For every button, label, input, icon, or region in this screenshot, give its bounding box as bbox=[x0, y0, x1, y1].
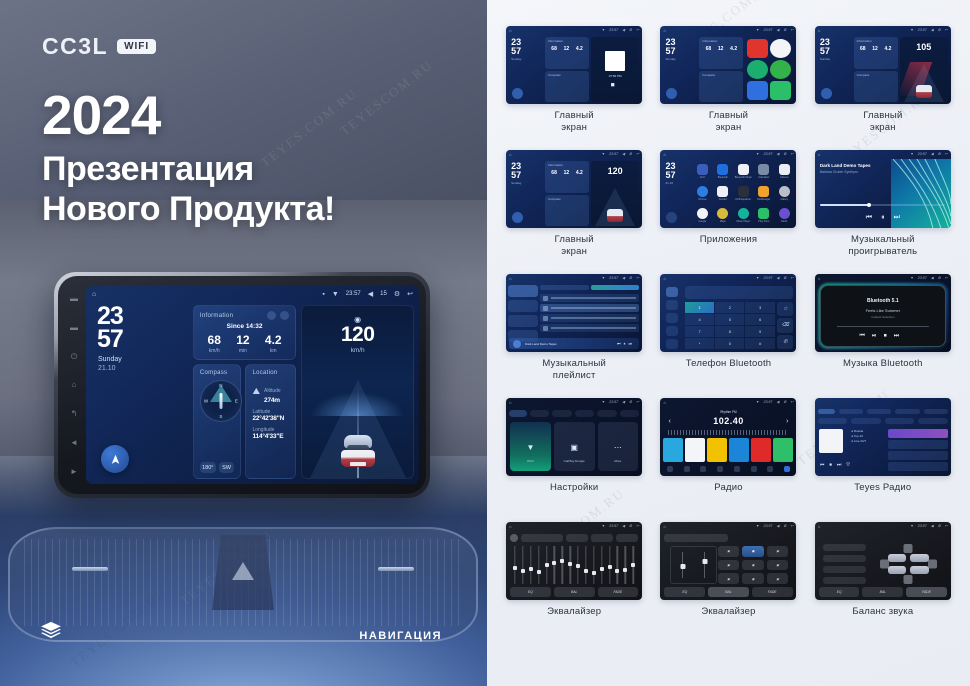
back-arrow-icon: ↩ bbox=[945, 28, 948, 32]
wifi-icon: ▼ bbox=[910, 152, 914, 156]
list-item[interactable] bbox=[540, 324, 639, 332]
gear-icon: ⚙ bbox=[629, 276, 632, 280]
home-icon[interactable]: ⌂ bbox=[92, 291, 96, 298]
product-logo: CC3L WIFI bbox=[42, 33, 156, 60]
thumbnail-bluetooth-music[interactable]: ⌂ ▼23:57◀⚙↩ Bluetooth 5.1 Feels Like Sum… bbox=[815, 274, 951, 352]
preset-tile[interactable]: ▣ bbox=[767, 546, 789, 557]
preset-1 bbox=[663, 438, 683, 462]
wifi-icon: ▼ bbox=[756, 276, 760, 280]
home-icon: ⌂ bbox=[509, 400, 511, 405]
speed-value: 120 bbox=[591, 166, 639, 176]
gear-icon: ⚙ bbox=[783, 400, 786, 404]
gallery-item[interactable]: ⌂ ▼23:57◀⚙↩ Rhythm FM ‹ › 102.40 Радио bbox=[655, 398, 801, 518]
back-arrow-icon: ↩ bbox=[790, 524, 793, 528]
thumbnail-equalizer-presets[interactable]: ⌂ ▼23:57◀⚙↩ ▣▣▣ ▣▣▣ ▣▣▣ EQBALFADE bbox=[660, 522, 796, 600]
track-artist: Barbara Gruber Synthpro bbox=[820, 170, 886, 174]
thumbnail-sound-balance[interactable]: ⌂ ▼23:57◀⚙↩ EQBALFADE bbox=[815, 522, 951, 600]
dialer-actions[interactable]: ☆ ⌫ ✆ bbox=[777, 302, 793, 349]
information-title: Information bbox=[200, 313, 233, 319]
gear-icon: ⚙ bbox=[629, 400, 632, 404]
preset-tile[interactable]: ▣ bbox=[767, 560, 789, 571]
thumbnail-home-speed[interactable]: ⌂ ▼23:57◀⚙↩ 2357 Sunday Information 6812… bbox=[815, 26, 951, 104]
previous-icon[interactable]: ⏮ bbox=[866, 214, 872, 222]
key-volume-icon[interactable]: ▬ bbox=[70, 323, 79, 332]
list-item[interactable] bbox=[540, 314, 639, 322]
compass-card[interactable]: Compass N S W E 180° bbox=[193, 364, 242, 479]
pause-icon[interactable]: ⏸ bbox=[881, 214, 885, 222]
tab-eq: EQ bbox=[819, 587, 860, 597]
drive-panel[interactable]: ◉ 120 km/h bbox=[301, 305, 414, 479]
car-illustration bbox=[338, 435, 378, 469]
volume-icon: ◀ bbox=[776, 400, 779, 404]
volume-icon: ◀ bbox=[776, 276, 779, 280]
thumbnail-home-music[interactable]: ⌂ ▼23:57◀⚙↩ 23 57 Sunday Information 681… bbox=[506, 26, 642, 104]
transport-controls[interactable]: ⏮⏯⏹⏭ bbox=[815, 333, 951, 340]
home-icon: ⌂ bbox=[663, 28, 665, 33]
app-tile[interactable]: FileManager bbox=[755, 183, 773, 203]
app-icon bbox=[747, 39, 768, 58]
gallery-caption: Музыкальный проигрыватель bbox=[848, 234, 917, 257]
transport-controls[interactable]: ⏮ ⏸ ⏭ bbox=[815, 214, 951, 222]
home-icon: ⌂ bbox=[663, 276, 665, 281]
radio-toolbar[interactable] bbox=[663, 465, 793, 473]
stat-distance: 4.2 km bbox=[265, 334, 282, 354]
home-icon: ⌂ bbox=[818, 524, 820, 529]
balance-down-icon[interactable] bbox=[904, 575, 913, 584]
back-arrow-icon: ↩ bbox=[945, 276, 948, 280]
gallery-caption: Teyes Радио bbox=[854, 482, 911, 494]
wifi-icon: ▼ bbox=[910, 524, 914, 528]
mountain-icon: ⛰ bbox=[252, 386, 260, 397]
eq-band[interactable] bbox=[599, 546, 605, 584]
gallery-caption: Эквалайзер bbox=[701, 606, 755, 618]
eq-band[interactable] bbox=[567, 546, 573, 584]
home-icon: ⌂ bbox=[663, 152, 665, 157]
gallery-item[interactable]: ⌂ ▼23:57◀⚙↩ ▣▣▣ ▣▣▣ ▣▣▣ EQBALFADE Эквала… bbox=[655, 522, 801, 642]
bluetooth-version: Bluetooth 5.1 bbox=[815, 298, 951, 304]
head-unit-screen[interactable]: ⌂ ▪ ▼ 23:57 ◀ 15 ⚙ ↩ 23 57 bbox=[86, 286, 419, 484]
settings-card-more[interactable]: ⋯More bbox=[598, 422, 639, 471]
home-icon: ⌂ bbox=[663, 524, 665, 529]
home-icon: ⌂ bbox=[509, 524, 511, 529]
preset-tile[interactable]: ▣ bbox=[742, 560, 764, 571]
preset-tile[interactable]: ▣ bbox=[742, 546, 764, 557]
key-4[interactable]: 4 bbox=[685, 314, 714, 325]
track-artist: Coldest Selection bbox=[815, 315, 951, 319]
stat-unit: km bbox=[265, 348, 282, 354]
eq-band[interactable] bbox=[583, 546, 589, 584]
preset-tile[interactable]: ▣ bbox=[718, 573, 740, 584]
gallery-item[interactable]: ⌂ ▼23:57◀⚙↩ 2357 Sunday Information 6812… bbox=[655, 26, 801, 146]
wifi-icon: ▼ bbox=[910, 28, 914, 32]
key-6[interactable]: 6 bbox=[745, 314, 774, 325]
eq-band[interactable] bbox=[607, 546, 613, 584]
compass-e: E bbox=[235, 399, 238, 404]
gallery-caption: Телефон Bluetooth bbox=[686, 358, 772, 370]
tab-bal: BAL bbox=[862, 587, 903, 597]
navigation-label: НАВИГАЦИЯ bbox=[359, 630, 442, 642]
balance-pad[interactable] bbox=[880, 544, 937, 584]
key-2[interactable]: 2 bbox=[715, 302, 744, 313]
app-icon bbox=[770, 60, 791, 79]
status-volume: 15 bbox=[380, 291, 387, 297]
bass-treble-sliders[interactable] bbox=[670, 546, 716, 584]
eq-band[interactable] bbox=[575, 546, 581, 584]
key-power-icon[interactable]: ⏻ bbox=[70, 352, 79, 361]
gallery-caption: Главный экран bbox=[709, 110, 748, 133]
compass-n: N bbox=[219, 383, 222, 388]
volume-icon: ◀ bbox=[931, 524, 934, 528]
wifi-icon: ▼ bbox=[756, 152, 760, 156]
headline-line2: Нового Продукта! bbox=[42, 189, 335, 229]
equalizer-tabs[interactable]: EQBALFADE bbox=[819, 587, 947, 597]
app-tile[interactable]: Google bbox=[693, 205, 711, 225]
gallery-grid: ⌂ ▼23:57◀⚙↩ 23 57 Sunday Information 681… bbox=[501, 26, 956, 642]
track-title: Dark Land Demo Tapes bbox=[525, 342, 613, 346]
widget-column: Information Since 14:32 68 km/h bbox=[193, 305, 296, 479]
hero-panel: TEYES.COM.RU TEYESCOM.RU TEYES.COM.RU TE… bbox=[0, 0, 487, 686]
preset-tile[interactable]: ▣ bbox=[767, 573, 789, 584]
volume-icon: ◀ bbox=[368, 290, 373, 298]
speed-value: 105 bbox=[900, 42, 948, 52]
home-icon: ⌂ bbox=[818, 152, 820, 157]
balance-up-icon[interactable] bbox=[904, 544, 913, 553]
album-art bbox=[513, 340, 521, 348]
wifi-icon: ▼ bbox=[756, 524, 760, 528]
preset-tile[interactable]: ▣ bbox=[718, 546, 740, 557]
gallery-item[interactable]: ⌂ ▼23:57◀⚙↩ 23 57 Sunday Information 681… bbox=[501, 26, 647, 146]
preset-2 bbox=[685, 438, 705, 462]
compass-direction: SW bbox=[219, 462, 235, 473]
key-volup-icon[interactable]: ► bbox=[70, 467, 79, 476]
tab-eq: EQ bbox=[510, 587, 551, 597]
wifi-icon: ▼ bbox=[756, 400, 760, 404]
eq-band[interactable] bbox=[552, 546, 558, 584]
eq-band[interactable] bbox=[622, 546, 628, 584]
album-art bbox=[819, 429, 843, 453]
preset-tile[interactable]: ▣ bbox=[742, 573, 764, 584]
call-icon[interactable]: ✆ bbox=[777, 335, 793, 349]
screenshot-gallery: TEYES.COM.RU TEYESCOM.RU TEYES.COM.RU TE… bbox=[487, 0, 970, 686]
longitude-value: 114°4'33"E bbox=[252, 433, 289, 440]
transport-controls[interactable]: ⏮⏸⏭ bbox=[617, 341, 635, 346]
time-label: 23:57 bbox=[609, 28, 618, 32]
key-1[interactable]: 1 bbox=[685, 302, 714, 313]
gallery-item[interactable]: ● Russia● Top 10● Live 24/7 ⏮⏹⏭♡ Teyes Р… bbox=[810, 398, 956, 518]
expand-icon[interactable] bbox=[280, 311, 289, 320]
information-card[interactable]: Information Since 14:32 68 km/h bbox=[193, 305, 296, 360]
back-arrow-icon: ↩ bbox=[790, 152, 793, 156]
back-arrow-icon: ↩ bbox=[636, 276, 639, 280]
equalizer-tabs[interactable]: EQBALFADE bbox=[664, 587, 792, 597]
trip-stats: 68 km/h 12 min 4.2 km bbox=[200, 334, 289, 354]
thumbnail-home-speed2[interactable]: ⌂ ▼23:57◀⚙↩ 2357 Sunday Information 6812… bbox=[506, 150, 642, 228]
wifi-icon: ▼ bbox=[510, 443, 551, 452]
settings-cards[interactable]: ▼Wi-Fi ▣CarPlay Dongle ⋯More bbox=[510, 422, 638, 471]
hazard-button[interactable] bbox=[212, 535, 274, 610]
eq-band[interactable] bbox=[520, 546, 526, 584]
volume-icon: ◀ bbox=[622, 28, 625, 32]
wifi-icon: ▼ bbox=[602, 400, 606, 404]
gear-icon: ⚙ bbox=[783, 28, 786, 32]
altitude-label: Altitude bbox=[264, 388, 281, 394]
navigation-arrow-icon bbox=[512, 88, 523, 99]
volume-icon: ◀ bbox=[622, 400, 625, 404]
next-icon[interactable]: ⏭ bbox=[894, 214, 900, 222]
preset-3 bbox=[707, 438, 727, 462]
key-7[interactable]: 7 bbox=[685, 326, 714, 337]
wifi-badge: WIFI bbox=[117, 39, 156, 54]
compass-s: S bbox=[219, 414, 222, 419]
tab-bal: BAL bbox=[708, 587, 749, 597]
station-list[interactable] bbox=[888, 429, 948, 472]
stat-value: 4.2 bbox=[265, 334, 282, 346]
thumbnail-settings[interactable]: ⌂ ▼23:57◀⚙↩ ▼Wi-Fi ▣CarPlay Dongle ⋯More bbox=[506, 398, 642, 476]
stat-unit: km/h bbox=[208, 348, 221, 354]
gear-icon: ⚙ bbox=[629, 152, 632, 156]
equalizer-sliders[interactable] bbox=[512, 546, 636, 584]
station-name: Rhythm FM bbox=[660, 410, 796, 414]
gear-icon: ⚙ bbox=[629, 524, 632, 528]
equalizer-header[interactable] bbox=[510, 533, 638, 543]
gallery-caption: Главный экран bbox=[555, 234, 594, 257]
transport-controls[interactable]: ⏮⏹⏭♡ bbox=[820, 462, 855, 468]
frequency-scale[interactable] bbox=[668, 430, 788, 435]
key-star[interactable]: * bbox=[685, 338, 714, 349]
wifi-icon: ▼ bbox=[602, 524, 606, 528]
clock-widget[interactable]: 23 57 Sunday 21.10 bbox=[91, 305, 188, 479]
carplay-icon: ▣ bbox=[554, 443, 595, 452]
balance-right-icon[interactable] bbox=[928, 560, 937, 569]
thumbnail-music-player[interactable]: ⌂ ▼23:57◀⚙↩ Dark Land Demo Tapes Barbara… bbox=[815, 150, 951, 228]
key-5[interactable]: 5 bbox=[715, 314, 744, 325]
dial-pad[interactable]: 123 456 789 *0# bbox=[685, 302, 775, 349]
volume-icon: ◀ bbox=[931, 276, 934, 280]
eq-band[interactable] bbox=[544, 546, 550, 584]
stat-value: 12 bbox=[236, 334, 249, 346]
preset-5 bbox=[751, 438, 771, 462]
since-label: Since 14:32 bbox=[200, 323, 289, 330]
key-0[interactable]: 0 bbox=[715, 338, 744, 349]
volume-icon: ◀ bbox=[622, 276, 625, 280]
clock-day: Sunday bbox=[98, 355, 188, 364]
app-tile[interactable]: Play Store bbox=[755, 205, 773, 225]
headline-year: 2024 bbox=[42, 88, 335, 143]
eq-band[interactable] bbox=[559, 546, 565, 584]
latitude-value: 22°42'38"N bbox=[252, 415, 289, 422]
key-9[interactable]: 9 bbox=[745, 326, 774, 337]
home-icon: ⌂ bbox=[663, 400, 665, 405]
thumbnail-playlist[interactable]: ⌂ ▼23:57◀⚙↩ Dark Land Demo Tapes ⏮⏸⏭ bbox=[506, 274, 642, 352]
back-arrow-icon[interactable]: ↩ bbox=[407, 290, 413, 298]
head-unit-bezel: ▬ ▬ ⏻ ⌂ ↰ ◄ ► ⌂ ▪ ▼ 23:57 ◀ 15 bbox=[54, 272, 430, 498]
navigation-arrow-icon bbox=[666, 88, 677, 99]
eq-band[interactable] bbox=[630, 546, 636, 584]
signal-icon: ▪ bbox=[322, 291, 324, 298]
eq-band[interactable] bbox=[528, 546, 534, 584]
list-item[interactable] bbox=[540, 304, 639, 312]
navigation-arrow-icon bbox=[821, 88, 832, 99]
app-tile[interactable]: Maps bbox=[714, 205, 732, 225]
car-illustration bbox=[607, 209, 623, 222]
brand-name: CC3L bbox=[42, 33, 108, 60]
balance-options[interactable] bbox=[823, 544, 867, 584]
wifi-icon: ▼ bbox=[332, 291, 339, 298]
phone-number-field[interactable] bbox=[685, 286, 794, 299]
hardware-key-strip[interactable]: ▬ ▬ ⏻ ⌂ ↰ ◄ ► bbox=[67, 294, 81, 476]
gallery-item[interactable]: ⌂ ▼23:57◀⚙↩ 2357 21.10 AUX Bluetooth Blu… bbox=[655, 150, 801, 270]
stat-time: 12 min bbox=[236, 334, 249, 354]
gallery-item[interactable]: ⌂ ▼23:57◀⚙↩ Bluetooth 5.1 Feels Like Sum… bbox=[810, 274, 956, 394]
app-tile[interactable]: Music Player bbox=[734, 205, 752, 225]
volume-icon: ◀ bbox=[931, 28, 934, 32]
dashboard-vent bbox=[8, 527, 478, 642]
wifi-icon: ▼ bbox=[602, 28, 606, 32]
eq-band[interactable] bbox=[591, 546, 597, 584]
seat-grid bbox=[888, 554, 929, 574]
app-tile[interactable]: DAB Equalizer bbox=[734, 183, 752, 203]
gear-icon[interactable]: ⚙ bbox=[394, 290, 400, 298]
gear-icon: ⚙ bbox=[783, 152, 786, 156]
app-tile[interactable]: Camera bbox=[775, 161, 793, 181]
app-tile[interactable]: Bluetooth Music bbox=[734, 161, 752, 181]
thumbnail-equalizer-bars[interactable]: ⌂ ▼23:57◀⚙↩ EQBALFADE bbox=[506, 522, 642, 600]
navigation-arrow-icon[interactable] bbox=[101, 445, 129, 473]
gear-icon: ⚙ bbox=[938, 276, 941, 280]
compass-heading: 180° bbox=[200, 462, 216, 473]
status-bar: ⌂ ▪ ▼ 23:57 ◀ 15 ⚙ ↩ bbox=[86, 286, 419, 302]
list-item[interactable] bbox=[540, 294, 639, 302]
app-grid[interactable]: AUX Bluetooth Bluetooth Music Calculator… bbox=[693, 161, 793, 225]
gallery-caption: Настройки bbox=[550, 482, 598, 494]
location-title: Location bbox=[252, 370, 289, 376]
preset-6 bbox=[773, 438, 793, 462]
thumbnail-apps[interactable]: ⌂ ▼23:57◀⚙↩ 2357 21.10 AUX Bluetooth Blu… bbox=[660, 150, 796, 228]
thumbnail-radio[interactable]: ⌂ ▼23:57◀⚙↩ Rhythm FM ‹ › 102.40 bbox=[660, 398, 796, 476]
more-icon: ⋯ bbox=[598, 443, 639, 452]
wifi-icon: ▼ bbox=[756, 28, 760, 32]
back-arrow-icon: ↩ bbox=[790, 28, 793, 32]
preset-grid[interactable]: ▣▣▣ ▣▣▣ ▣▣▣ bbox=[718, 546, 789, 584]
gallery-item[interactable]: ⌂ ▼23:57◀⚙↩ 123 456 789 *0# ☆ ⌫ ✆ Телефо… bbox=[655, 274, 801, 394]
back-arrow-icon: ↩ bbox=[945, 524, 948, 528]
preset-tile[interactable]: ▣ bbox=[718, 560, 740, 571]
key-3[interactable]: 3 bbox=[745, 302, 774, 313]
app-tile[interactable]: Contact bbox=[714, 183, 732, 203]
back-arrow-icon: ↩ bbox=[790, 276, 793, 280]
thumbnail-home-apps[interactable]: ⌂ ▼23:57◀⚙↩ 2357 Sunday Information 6812… bbox=[660, 26, 796, 104]
location-card[interactable]: Location ⛰ Altitude 274m Latitude bbox=[245, 364, 296, 479]
status-time: 23:57 bbox=[346, 291, 361, 297]
key-hash[interactable]: # bbox=[745, 338, 774, 349]
app-icon bbox=[747, 81, 768, 100]
back-arrow-icon: ↩ bbox=[636, 28, 639, 32]
gallery-item[interactable]: ⌂ ▼23:57◀⚙↩ 2357 Sunday Information 6812… bbox=[810, 26, 956, 146]
gallery-caption: Баланс звука bbox=[852, 606, 913, 618]
equalizer-tabs[interactable]: EQBALFADE bbox=[510, 587, 638, 597]
gallery-item[interactable]: ⌂ ▼23:57◀⚙↩ Dark Land Demo Tapes Barbara… bbox=[810, 150, 956, 270]
teyes-radio-tabs[interactable] bbox=[818, 408, 948, 415]
favorite-icon[interactable]: ☆ bbox=[777, 302, 793, 316]
gear-icon: ⚙ bbox=[629, 28, 632, 32]
car-illustration bbox=[916, 85, 932, 98]
settings-card-carplay[interactable]: ▣CarPlay Dongle bbox=[554, 422, 595, 471]
thumbnail-teyes-radio[interactable]: ● Russia● Top 10● Live 24/7 ⏮⏹⏭♡ bbox=[815, 398, 951, 476]
gallery-item[interactable]: ⌂ ▼23:57◀⚙↩ 2357 Sunday Information 6812… bbox=[501, 150, 647, 270]
gallery-item[interactable]: ⌂ ▼23:57◀⚙↩ EQBALFADE Эквалайзер bbox=[501, 522, 647, 642]
headline-block: 2024 Презентация Нового Продукта! bbox=[42, 88, 335, 229]
speed-value: 120 bbox=[302, 324, 413, 345]
key-menu-icon[interactable]: ▬ bbox=[70, 294, 79, 303]
gallery-item[interactable]: ⌂ ▼23:57◀⚙↩ EQBALFADE Баланс звука bbox=[810, 522, 956, 642]
frequency-value: 102.40 bbox=[660, 416, 796, 426]
key-back-icon[interactable]: ↰ bbox=[70, 409, 79, 418]
app-icon bbox=[770, 39, 791, 58]
volume-icon: ◀ bbox=[776, 524, 779, 528]
app-tile[interactable]: Radio bbox=[775, 205, 793, 225]
progress-bar[interactable] bbox=[820, 204, 945, 206]
compass-title: Compass bbox=[548, 73, 586, 77]
compass-dial: N S W E bbox=[200, 380, 242, 422]
volume-icon: ◀ bbox=[622, 524, 625, 528]
playlist-rows[interactable] bbox=[540, 285, 639, 338]
screen-content: 23 57 Sunday 21.10 Informa bbox=[86, 302, 419, 484]
eq-band[interactable] bbox=[615, 546, 621, 584]
gallery-caption: Эквалайзер bbox=[547, 606, 601, 618]
volume-icon: ◀ bbox=[776, 152, 779, 156]
gallery-item[interactable]: ⌂ ▼23:57◀⚙↩ Dark Land Demo Tapes ⏮⏸⏭ Муз… bbox=[501, 274, 647, 394]
app-tile[interactable]: Chrome bbox=[693, 183, 711, 203]
app-icon bbox=[747, 60, 768, 79]
app-tile[interactable]: Bluetooth bbox=[714, 161, 732, 181]
progress-bar[interactable] bbox=[837, 326, 929, 327]
key-8[interactable]: 8 bbox=[715, 326, 744, 337]
preset-tiles[interactable] bbox=[663, 438, 793, 462]
home-icon: ⌂ bbox=[509, 276, 511, 281]
clock-minutes: 57 bbox=[511, 47, 543, 55]
settings-tabs[interactable] bbox=[509, 409, 639, 418]
wifi-icon: ▼ bbox=[910, 276, 914, 280]
settings-card-wifi[interactable]: ▼Wi-Fi bbox=[510, 422, 551, 471]
gear-icon: ⚙ bbox=[938, 28, 941, 32]
home-icon: ⌂ bbox=[818, 28, 820, 33]
app-tile[interactable]: Gallery bbox=[775, 183, 793, 203]
speed-unit: km/h bbox=[302, 347, 413, 354]
clock-date: 21.10 bbox=[98, 364, 188, 373]
gear-icon: ⚙ bbox=[783, 276, 786, 280]
headline-line1: Презентация bbox=[42, 149, 335, 189]
app-tile[interactable]: AUX bbox=[693, 161, 711, 181]
eq-band[interactable] bbox=[536, 546, 542, 584]
preset-4 bbox=[729, 438, 749, 462]
back-arrow-icon: ↩ bbox=[945, 152, 948, 156]
navigation-arrow-icon bbox=[512, 212, 523, 223]
phone-sidebar[interactable] bbox=[662, 285, 681, 349]
clock-minutes: 57 bbox=[97, 328, 188, 351]
thumbnail-bluetooth-phone[interactable]: ⌂ ▼23:57◀⚙↩ 123 456 789 *0# ☆ ⌫ ✆ bbox=[660, 274, 796, 352]
key-voldown-icon[interactable]: ◄ bbox=[70, 438, 79, 447]
eq-band[interactable] bbox=[512, 546, 518, 584]
app-tile[interactable]: Calculator bbox=[755, 161, 773, 181]
key-home-icon[interactable]: ⌂ bbox=[70, 380, 79, 389]
refresh-icon[interactable] bbox=[267, 311, 276, 320]
home-icon: ⌂ bbox=[818, 276, 820, 281]
teyes-radio-filters[interactable] bbox=[818, 418, 948, 425]
gallery-item[interactable]: ⌂ ▼23:57◀⚙↩ ▼Wi-Fi ▣CarPlay Dongle ⋯More… bbox=[501, 398, 647, 518]
app-icon bbox=[770, 81, 791, 100]
backspace-icon[interactable]: ⌫ bbox=[777, 318, 793, 332]
mini-player-bar[interactable]: Dark Land Demo Tapes ⏮⏸⏭ bbox=[509, 338, 639, 349]
